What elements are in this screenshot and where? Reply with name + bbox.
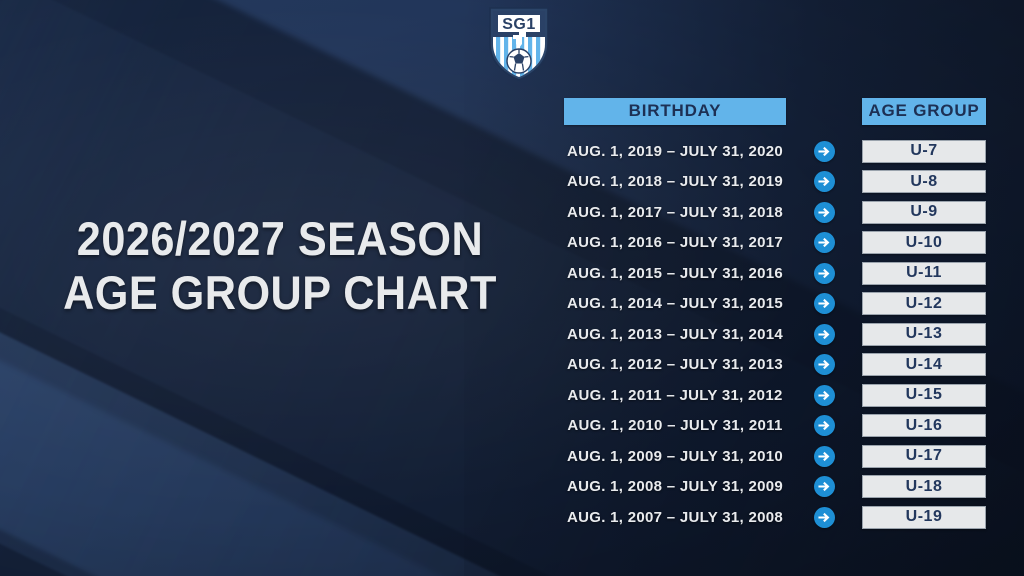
arrow-right-circle-icon (814, 232, 835, 253)
table-row: AUG. 1, 2014 – JULY 31, 2015 U-12 (560, 289, 990, 320)
arrow-right-circle-icon (814, 507, 835, 528)
table-row: AUG. 1, 2016 – JULY 31, 2017 U-10 (560, 228, 990, 259)
table-body: AUG. 1, 2019 – JULY 31, 2020 U-7 AUG. 1,… (560, 136, 990, 533)
age-group-badge: U-14 (862, 353, 986, 376)
age-group-table: BIRTHDAY AGE GROUP AUG. 1, 2019 – JULY 3… (560, 96, 990, 533)
age-group-badge: U-12 (862, 292, 986, 315)
arrow-cell (786, 476, 862, 497)
table-row: AUG. 1, 2019 – JULY 31, 2020 U-7 (560, 136, 990, 167)
birthday-range-cell: AUG. 1, 2012 – JULY 31, 2013 (564, 356, 786, 373)
arrow-cell (786, 171, 862, 192)
birthday-range-cell: AUG. 1, 2011 – JULY 31, 2012 (564, 387, 786, 404)
arrow-right-circle-icon (814, 476, 835, 497)
arrow-right-circle-icon (814, 202, 835, 223)
arrow-cell (786, 232, 862, 253)
arrow-cell (786, 354, 862, 375)
birthday-range-cell: AUG. 1, 2007 – JULY 31, 2008 (564, 509, 786, 526)
birthday-range-cell: AUG. 1, 2010 – JULY 31, 2011 (564, 417, 786, 434)
age-group-badge: U-18 (862, 475, 986, 498)
arrow-cell (786, 293, 862, 314)
birthday-range-cell: AUG. 1, 2019 – JULY 31, 2020 (564, 143, 786, 160)
title-line-season: 2026/2027 SEASON (22, 212, 537, 266)
arrow-right-circle-icon (814, 293, 835, 314)
birthday-range-cell: AUG. 1, 2018 – JULY 31, 2019 (564, 173, 786, 190)
age-group-badge: U-16 (862, 414, 986, 437)
table-row: AUG. 1, 2012 – JULY 31, 2013 U-14 (560, 350, 990, 381)
page-title: 2026/2027 SEASON AGE GROUP CHART (0, 212, 560, 320)
age-group-badge: U-17 (862, 445, 986, 468)
sg1-shield-logo-icon: SG1 (487, 4, 551, 82)
arrow-cell (786, 263, 862, 284)
age-group-badge: U-9 (862, 201, 986, 224)
birthday-range-cell: AUG. 1, 2013 – JULY 31, 2014 (564, 326, 786, 343)
arrow-right-circle-icon (814, 385, 835, 406)
arrow-right-circle-icon (814, 141, 835, 162)
table-row: AUG. 1, 2007 – JULY 31, 2008 U-19 (560, 502, 990, 533)
age-group-badge: U-19 (862, 506, 986, 529)
table-row: AUG. 1, 2018 – JULY 31, 2019 U-8 (560, 167, 990, 198)
arrow-cell (786, 385, 862, 406)
table-row: AUG. 1, 2015 – JULY 31, 2016 U-11 (560, 258, 990, 289)
age-group-badge: U-11 (862, 262, 986, 285)
birthday-range-cell: AUG. 1, 2016 – JULY 31, 2017 (564, 234, 786, 251)
birthday-range-cell: AUG. 1, 2015 – JULY 31, 2016 (564, 265, 786, 282)
arrow-right-circle-icon (814, 324, 835, 345)
arrow-cell (786, 507, 862, 528)
age-group-chart-graphic: SG1 2026/2027 SEASON AGE GROUP CHART BIR… (0, 0, 1024, 576)
column-header-age-group: AGE GROUP (862, 98, 986, 125)
column-header-birthday: BIRTHDAY (564, 98, 786, 125)
svg-text:SG1: SG1 (502, 16, 536, 33)
age-group-badge: U-8 (862, 170, 986, 193)
arrow-cell (786, 141, 862, 162)
age-group-badge: U-15 (862, 384, 986, 407)
age-group-badge: U-13 (862, 323, 986, 346)
arrow-right-circle-icon (814, 171, 835, 192)
table-row: AUG. 1, 2010 – JULY 31, 2011 U-16 (560, 411, 990, 442)
birthday-range-cell: AUG. 1, 2017 – JULY 31, 2018 (564, 204, 786, 221)
age-group-badge: U-7 (862, 140, 986, 163)
arrow-right-circle-icon (814, 415, 835, 436)
title-line-chart: AGE GROUP CHART (22, 266, 537, 320)
age-group-badge: U-10 (862, 231, 986, 254)
table-row: AUG. 1, 2017 – JULY 31, 2018 U-9 (560, 197, 990, 228)
table-row: AUG. 1, 2011 – JULY 31, 2012 U-15 (560, 380, 990, 411)
arrow-right-circle-icon (814, 263, 835, 284)
table-row: AUG. 1, 2013 – JULY 31, 2014 U-13 (560, 319, 990, 350)
arrow-right-circle-icon (814, 354, 835, 375)
arrow-cell (786, 202, 862, 223)
birthday-range-cell: AUG. 1, 2008 – JULY 31, 2009 (564, 478, 786, 495)
birthday-range-cell: AUG. 1, 2014 – JULY 31, 2015 (564, 295, 786, 312)
arrow-cell (786, 324, 862, 345)
table-header-row: BIRTHDAY AGE GROUP (560, 96, 990, 126)
arrow-cell (786, 415, 862, 436)
arrow-cell (786, 446, 862, 467)
table-row: AUG. 1, 2008 – JULY 31, 2009 U-18 (560, 472, 990, 503)
birthday-range-cell: AUG. 1, 2009 – JULY 31, 2010 (564, 448, 786, 465)
arrow-right-circle-icon (814, 446, 835, 467)
table-row: AUG. 1, 2009 – JULY 31, 2010 U-17 (560, 441, 990, 472)
